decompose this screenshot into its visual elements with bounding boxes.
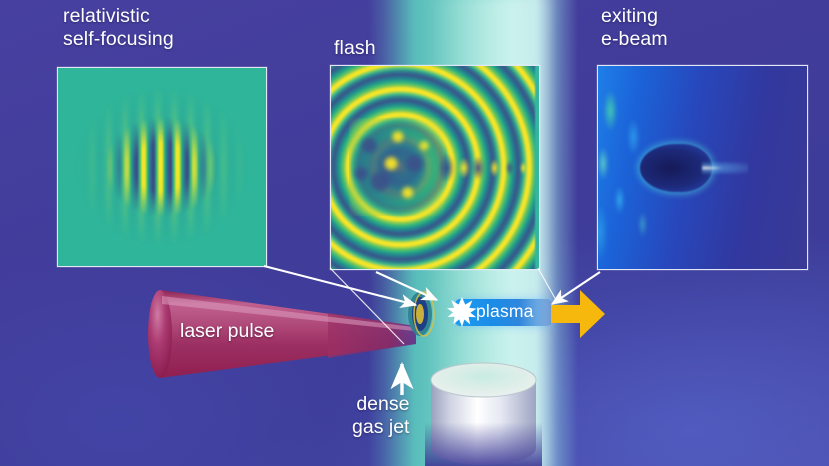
panel-title-self-focusing: relativistic self-focusing	[63, 5, 174, 51]
ebeam-forward-spike	[702, 162, 748, 174]
panel-flash[interactable]	[330, 65, 540, 270]
callout-self-focusing	[264, 266, 416, 305]
panel-ebeam[interactable]	[597, 65, 808, 270]
panel-title-ebeam: exiting e-beam	[601, 5, 668, 51]
focus-spot-disc	[404, 288, 438, 340]
self-focusing-field-fringes	[58, 68, 266, 266]
figure-canvas: relativistic self-focusing flash exiting…	[0, 0, 829, 466]
guide-flash-left	[330, 268, 404, 344]
label-gas-jet: dense gas jet	[352, 393, 409, 439]
label-laser-pulse: laser pulse	[180, 320, 274, 343]
flash-wake-chevrons	[435, 144, 531, 192]
gas-jet-nozzle	[425, 362, 542, 466]
ebeam-arrow-icon	[549, 288, 607, 340]
plasma-burst-icon	[447, 296, 477, 328]
label-plasma: plasma	[476, 301, 534, 322]
panel-title-flash: flash	[334, 37, 376, 60]
panel-self-focusing[interactable]	[57, 67, 267, 267]
